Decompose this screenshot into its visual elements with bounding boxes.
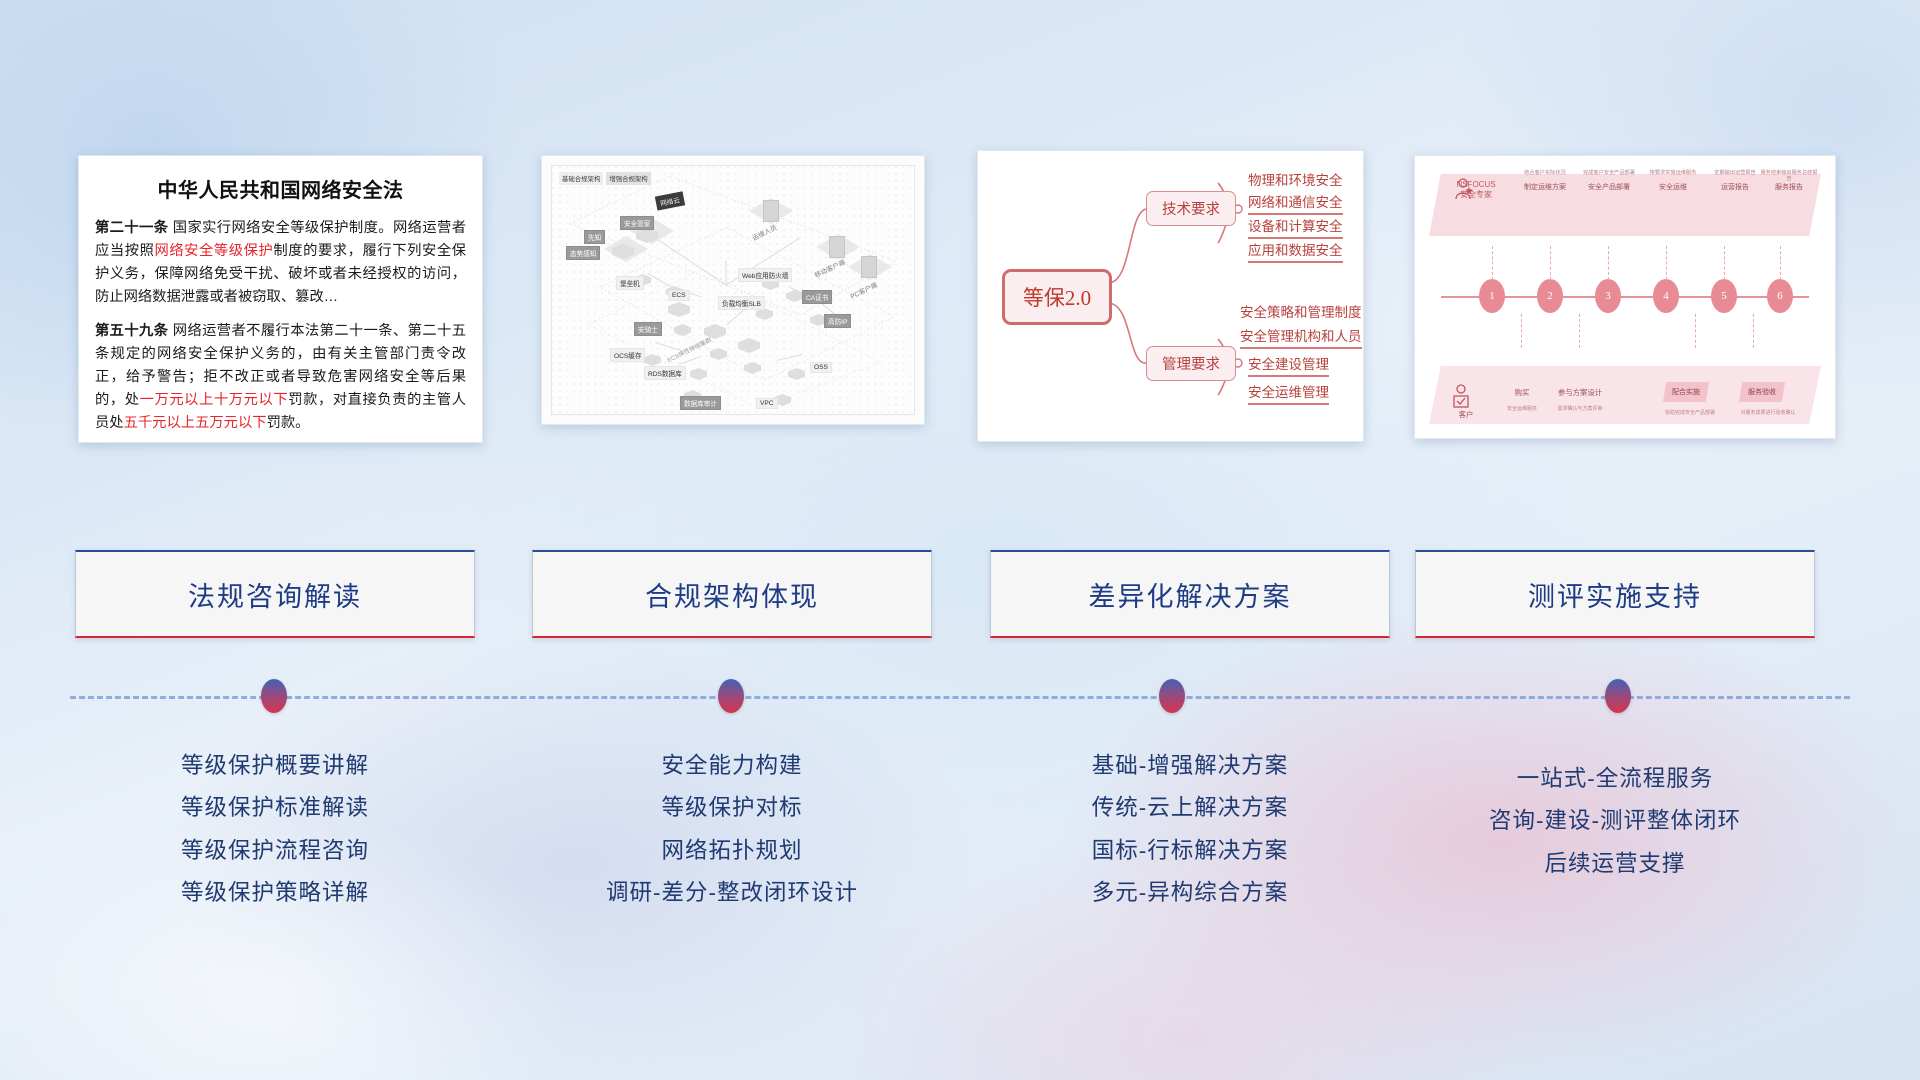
nsfocus-customer-label: 客户: [1445, 410, 1487, 420]
nsfocus-stem-b2: [1579, 314, 1581, 348]
nsfocus-stem-1: [1492, 246, 1494, 280]
nsfocus-step-3[interactable]: 3: [1595, 279, 1621, 313]
list-item: 一站式-全流程服务: [1415, 758, 1815, 800]
card-compliance-architecture[interactable]: 基础合规架构 增强合规架构: [541, 155, 925, 425]
list-item: 咨询-建设-测评整体闭环: [1415, 800, 1815, 842]
arch-label-slb: 负载均衡SLB: [718, 296, 765, 310]
nsfocus-bottom-item-2: 参与方案设计: [1551, 388, 1609, 398]
list-item: 网络拓扑规划: [532, 830, 932, 872]
arch-cube-oss: [788, 368, 805, 380]
arch-label-taishiganzhi: 态势感知: [566, 246, 600, 260]
list-item: 等级保护对标: [532, 787, 932, 829]
nsfocus-stem-3: [1608, 246, 1610, 280]
arch-label-vpc: VPC: [756, 398, 778, 409]
pillar-box-2[interactable]: 合规架构体现: [532, 550, 932, 638]
mindmap-leaf-physical-env[interactable]: 物理和环境安全: [1248, 169, 1343, 191]
article-59-label: 第五十九条: [95, 323, 168, 339]
arch-label-anquanguanjia: 安全管家: [620, 216, 654, 230]
nsfocus-step-5[interactable]: 5: [1711, 279, 1737, 313]
mindmap: 等保2.0 技术要求 管理要求 物理和环境安全 网络和通信安全 设备和计算安全 …: [978, 151, 1363, 441]
timeline-dashed-line: [70, 696, 1850, 699]
nsfocus-step-4[interactable]: 4: [1653, 279, 1679, 313]
arch-cube-ecs: [668, 302, 690, 317]
list-item: 等级保护流程咨询: [75, 830, 475, 872]
mindmap-root-node[interactable]: 等保2.0: [1002, 269, 1112, 325]
nsfocus-stem-4: [1666, 246, 1668, 280]
pillar-box-3[interactable]: 差异化解决方案: [990, 550, 1390, 638]
list-item: 调研-差分-整改闭环设计: [532, 872, 932, 914]
nsfocus-stem-5: [1724, 246, 1726, 280]
list-item: 安全能力构建: [532, 745, 932, 787]
pillar-box-1[interactable]: 法规咨询解读: [75, 550, 475, 638]
list-item: 等级保护策略详解: [75, 872, 475, 914]
law-title: 中华人民共和国网络安全法: [95, 174, 466, 203]
pillar-title-2: 合规架构体现: [645, 575, 819, 614]
arch-label-waf: Web应用防火墙: [738, 268, 792, 282]
list-item: 等级保护概要讲解: [75, 745, 475, 787]
mindmap-branch-management[interactable]: 管理要求: [1146, 346, 1236, 381]
arch-cube-rds: [690, 368, 707, 380]
tab-basic-architecture[interactable]: 基础合规架构: [559, 172, 603, 185]
article-59-highlight-1: 一万元以上十万元以下: [140, 392, 289, 408]
nsfocus-step-1[interactable]: 1: [1479, 279, 1505, 313]
mindmap-leaf-construction-mgmt[interactable]: 安全建设管理: [1248, 353, 1329, 377]
nsfocus-top-caption-3: 按要求实施运维服务: [1643, 170, 1703, 176]
nsfocus-top-item-1: 制定运维方案: [1518, 183, 1572, 192]
list-item: 后续运营支撑: [1415, 843, 1815, 885]
arch-label-ocs: OCS缓存: [610, 348, 645, 362]
mindmap-leaf-ops-mgmt[interactable]: 安全运维管理: [1248, 381, 1329, 405]
law-article-21: 第二十一条 国家实行网络安全等级保护制度。网络运营者应当按照网络安全等级保护制度…: [95, 217, 466, 310]
nsfocus-stem-2: [1550, 246, 1552, 280]
nsfocus-top-caption-5: 服务结束输出服务总结报告: [1759, 170, 1819, 182]
nsfocus-brand-line2: 安全专家: [1445, 190, 1507, 200]
mindmap-leaf-network-comm[interactable]: 网络和通信安全: [1248, 191, 1343, 215]
arch-cube-anqishi: [674, 324, 691, 336]
arch-label-pc-client: PC客户端: [845, 277, 882, 303]
arch-label-ecs-cluster: ECS弹性伸缩集群: [662, 333, 716, 367]
arch-label-anqishi: 安骑士: [634, 322, 662, 336]
arch-cube-ocs: [644, 354, 661, 366]
mindmap-leaf-org-personnel[interactable]: 安全管理机构和人员: [1240, 325, 1362, 349]
pillar-title-1: 法规咨询解读: [188, 575, 362, 614]
nsfocus-top-caption-2: 完成客户安全产品部署: [1579, 170, 1639, 176]
arch-label-ca: CA证书: [802, 290, 832, 304]
pillar-title-4: 测评实施支持: [1528, 575, 1702, 614]
slide-root: 中华人民共和国网络安全法 第二十一条 国家实行网络安全等级保护制度。网络运营者应…: [0, 0, 1920, 1080]
timeline-marker-4[interactable]: [1605, 679, 1631, 713]
nsfocus-top-item-3: 安全运维: [1646, 183, 1700, 192]
arch-label-ops-staff: 运维人员: [747, 220, 781, 245]
nsfocus-bottom-item-4: 服务验收: [1739, 382, 1785, 402]
arch-label-xianzhi: 先知: [584, 230, 605, 244]
customer-icon: [1451, 384, 1471, 408]
detail-list-3: 基础-增强解决方案 传统-云上解决方案 国标-行标解决方案 多元-异构综合方案: [990, 745, 1390, 914]
arch-label-cloud: 网络云: [655, 191, 685, 210]
arch-server-icon-1: [763, 200, 779, 222]
list-item: 国标-行标解决方案: [990, 830, 1390, 872]
card-cybersecurity-law[interactable]: 中华人民共和国网络安全法 第二十一条 国家实行网络安全等级保护制度。网络运营者应…: [78, 155, 483, 443]
mindmap-leaf-policy-system[interactable]: 安全策略和管理制度: [1240, 301, 1362, 323]
timeline-marker-3[interactable]: [1159, 679, 1185, 713]
nsfocus-bottom-caption-2: 需求确认与方案评审: [1545, 406, 1615, 412]
nsfocus-bottom-item-3: 配合实施: [1663, 382, 1709, 402]
nsfocus-timeline: NSFOCUS 安全专家 结合客户实际状况 完成客户安全产品部署 按要求实施运维…: [1415, 156, 1835, 438]
architecture-tabs[interactable]: 基础合规架构 增强合规架构: [559, 172, 651, 185]
nsfocus-top-caption-4: 定期输出运营报告: [1705, 170, 1765, 176]
arch-label-dbaudit: 数据库审计: [680, 396, 721, 410]
nsfocus-stem-b3: [1695, 314, 1697, 348]
nsfocus-top-caption-1: 结合客户实际状况: [1515, 170, 1575, 176]
architecture-diagram: 基础合规架构 增强合规架构: [542, 156, 924, 424]
list-item: 等级保护标准解读: [75, 787, 475, 829]
arch-label-gaofangip: 高防IP: [824, 314, 851, 328]
card-nsfocus-service-flow[interactable]: NSFOCUS 安全专家 结合客户实际状况 完成客户安全产品部署 按要求实施运维…: [1414, 155, 1836, 439]
law-article-59: 第五十九条 网络运营者不履行本法第二十一条、第二十五条规定的网络安全保护义务的，…: [95, 320, 466, 436]
nsfocus-top-item-2: 安全产品部署: [1582, 183, 1636, 192]
arch-server-icon-3: [861, 256, 877, 278]
article-21-label: 第二十一条: [95, 220, 168, 236]
arch-label-rds: RDS数据库: [644, 366, 686, 380]
nsfocus-bottom-item-1: 购买: [1493, 388, 1551, 398]
arch-cube-ca: [786, 290, 803, 302]
nsfocus-step-6[interactable]: 6: [1767, 279, 1793, 313]
nsfocus-top-item-4: 运营报告: [1708, 183, 1762, 192]
card-mindmap-dengbao[interactable]: 等保2.0 技术要求 管理要求 物理和环境安全 网络和通信安全 设备和计算安全 …: [977, 150, 1364, 442]
arch-label-ecs: ECS: [668, 290, 690, 301]
nsfocus-stem-6: [1780, 246, 1782, 280]
law-text-body: 中华人民共和国网络安全法 第二十一条 国家实行网络安全等级保护制度。网络运营者应…: [79, 156, 482, 442]
tab-enhanced-architecture[interactable]: 增强合规架构: [606, 172, 650, 185]
arch-cube-cluster-2: [738, 338, 760, 353]
arch-label-baoleiji: 堡垒机: [616, 276, 644, 290]
nsfocus-bottom-caption-3: 协助完成安全产品部署: [1655, 410, 1725, 416]
timeline-marker-1[interactable]: [261, 679, 287, 713]
mindmap-leaf-device-compute[interactable]: 设备和计算安全: [1248, 215, 1343, 239]
nsfocus-brand-block: NSFOCUS 安全专家: [1445, 180, 1507, 200]
list-item: 基础-增强解决方案: [990, 745, 1390, 787]
mindmap-leaf-app-data[interactable]: 应用和数据安全: [1248, 239, 1343, 263]
nsfocus-top-item-5: 服务报告: [1762, 183, 1816, 192]
arch-cube-cluster-3: [710, 348, 727, 360]
detail-list-1: 等级保护概要讲解 等级保护标准解读 等级保护流程咨询 等级保护策略详解: [75, 745, 475, 914]
list-item: 多元-异构综合方案: [990, 872, 1390, 914]
article-59-highlight-2: 五千元以上五万元以下: [124, 415, 267, 431]
nsfocus-brand-line1: NSFOCUS: [1445, 180, 1507, 190]
nsfocus-stem-b1: [1521, 314, 1523, 348]
architecture-canvas: 基础合规架构 增强合规架构: [551, 165, 915, 415]
article-59-text-c: 罚款。: [267, 415, 310, 431]
detail-list-2: 安全能力构建 等级保护对标 网络拓扑规划 调研-差分-整改闭环设计: [532, 745, 932, 914]
pillar-title-3: 差异化解决方案: [1089, 575, 1292, 614]
mindmap-branch-technical[interactable]: 技术要求: [1146, 191, 1236, 226]
timeline-marker-2[interactable]: [718, 679, 744, 713]
arch-label-mobile-client: 移动客户端: [809, 254, 849, 282]
nsfocus-step-2[interactable]: 2: [1537, 279, 1563, 313]
pillar-box-4[interactable]: 测评实施支持: [1415, 550, 1815, 638]
detail-list-4: 一站式-全流程服务 咨询-建设-测评整体闭环 后续运营支撑: [1415, 758, 1815, 885]
article-21-highlight: 网络安全等级保护: [154, 243, 273, 259]
top-card-row: 中华人民共和国网络安全法 第二十一条 国家实行网络安全等级保护制度。网络运营者应…: [0, 0, 1920, 440]
arch-label-oss: OSS: [810, 362, 832, 373]
nsfocus-bottom-caption-4: 对服务成果进行验收确认: [1733, 410, 1803, 416]
nsfocus-stem-b4: [1753, 314, 1755, 348]
list-item: 传统-云上解决方案: [990, 787, 1390, 829]
arch-cube-cluster-4: [744, 362, 761, 374]
